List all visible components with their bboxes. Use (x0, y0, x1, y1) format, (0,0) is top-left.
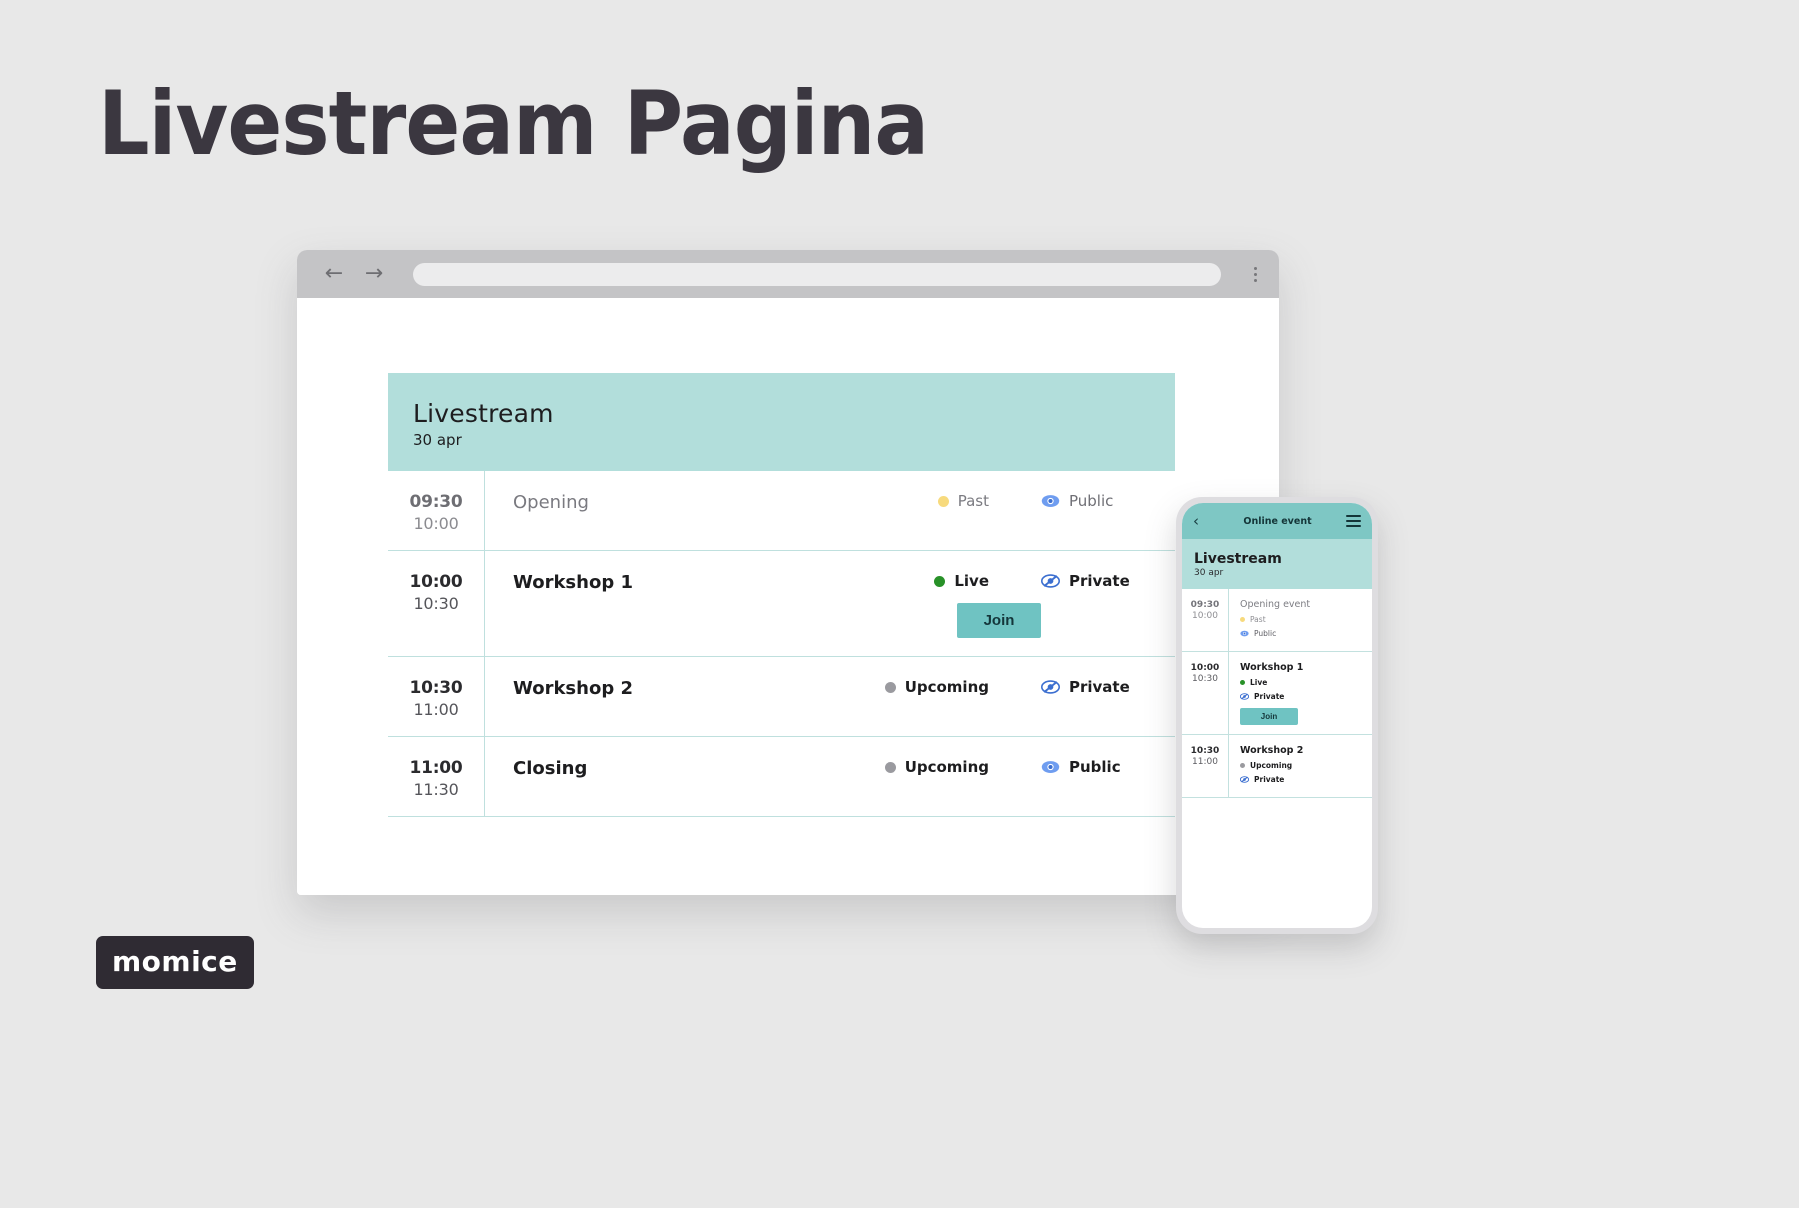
address-bar[interactable] (413, 263, 1221, 286)
row-title: Opening (513, 492, 938, 513)
phone-title: Online event (1209, 516, 1346, 527)
row-end-time: 11:00 (388, 700, 484, 719)
phone-banner: Livestream 30 apr (1182, 539, 1372, 589)
row-title: Workshop 2 (513, 678, 885, 699)
phone-banner-date: 30 apr (1194, 568, 1372, 578)
phone-status-badge: Live (1240, 678, 1364, 687)
visibility-label: Public (1069, 492, 1113, 510)
row-status-group: Upcoming Private (885, 678, 1149, 696)
phone-visibility-badge: Private (1240, 692, 1364, 701)
browser-toolbar: ← → (297, 250, 1279, 298)
phone-status-badge: Past (1240, 615, 1364, 624)
kebab-menu-icon[interactable] (1245, 267, 1265, 282)
visibility-label: Private (1069, 572, 1130, 590)
status-label: Live (954, 572, 989, 590)
browser-viewport: Livestream 30 apr 09:30 10:00 Opening (297, 298, 1279, 895)
status-dot-icon (938, 496, 949, 507)
phone-row-title: Workshop 1 (1240, 662, 1364, 673)
phone-row-end: 11:00 (1182, 757, 1228, 767)
phone-row-start: 09:30 (1182, 600, 1228, 610)
status-dot-icon (934, 576, 945, 587)
table-row[interactable]: 10:00 10:30 Workshop 1 Live (388, 551, 1175, 657)
phone-row-title: Opening event (1240, 599, 1364, 610)
phone-row-title: Workshop 2 (1240, 745, 1364, 756)
visibility-badge: Private (1041, 572, 1149, 590)
status-badge: Live (934, 572, 989, 590)
status-label: Upcoming (905, 758, 989, 776)
row-end-time: 11:30 (388, 780, 484, 799)
row-time: 09:30 10:00 (388, 471, 485, 550)
row-time: 10:00 10:30 (388, 551, 485, 656)
phone-status-label: Upcoming (1250, 761, 1292, 770)
row-time: 10:30 11:00 (388, 657, 485, 736)
table-row[interactable]: 11:00 11:30 Closing Upcoming (388, 737, 1175, 817)
phone-visibility-label: Private (1254, 775, 1284, 784)
phone-row-start: 10:00 (1182, 663, 1228, 673)
status-label: Past (958, 492, 989, 510)
eye-icon (1041, 760, 1060, 774)
status-label: Upcoming (905, 678, 989, 696)
row-start-time: 11:00 (388, 758, 484, 778)
row-badges: Live Private (934, 572, 1149, 590)
visibility-badge: Public (1041, 492, 1149, 510)
eye-off-icon (1240, 776, 1249, 783)
list-item[interactable]: 10:30 11:00 Workshop 2 Upcoming (1182, 735, 1372, 798)
status-dot-icon (1240, 617, 1245, 622)
phone-row-content: Workshop 1 Live Private (1229, 652, 1372, 734)
back-icon[interactable]: ← (323, 263, 345, 285)
visibility-badge: Private (1041, 678, 1149, 696)
status-dot-icon (1240, 680, 1245, 685)
row-content: Workshop 1 Live (485, 551, 1175, 656)
eye-off-icon (1041, 574, 1060, 588)
row-status-group: Upcoming Public (885, 758, 1149, 776)
eye-icon (1240, 630, 1249, 637)
row-title: Closing (513, 758, 885, 779)
canvas: Livestream Pagina ← → Livestream 30 apr … (0, 0, 1799, 1208)
phone-row-time: 10:30 11:00 (1182, 735, 1229, 797)
phone-join-button[interactable]: Join (1240, 708, 1298, 725)
visibility-badge: Public (1041, 758, 1149, 776)
status-badge: Upcoming (885, 758, 989, 776)
phone-visibility-label: Public (1254, 629, 1276, 638)
phone-visibility-badge: Private (1240, 775, 1364, 784)
phone-row-start: 10:30 (1182, 746, 1228, 756)
phone-visibility-badge: Public (1240, 629, 1364, 638)
schedule-date: 30 apr (413, 431, 1175, 449)
phone-row-end: 10:00 (1182, 611, 1228, 621)
list-item[interactable]: 10:00 10:30 Workshop 1 Live (1182, 652, 1372, 735)
phone-status-label: Live (1250, 678, 1267, 687)
phone-row-content: Opening event Past Public (1229, 589, 1372, 651)
status-dot-icon (885, 762, 896, 773)
row-start-time: 10:30 (388, 678, 484, 698)
back-chevron-icon[interactable]: ‹ (1193, 512, 1209, 530)
phone-status-badge: Upcoming (1240, 761, 1364, 770)
row-start-time: 09:30 (388, 492, 484, 512)
row-content: Closing Upcoming (485, 737, 1175, 816)
phone-status-label: Past (1250, 615, 1266, 624)
browser-window: ← → Livestream 30 apr 09:30 10:00 O (297, 250, 1279, 895)
schedule-header: Livestream 30 apr (388, 373, 1175, 471)
row-title: Workshop 1 (513, 572, 934, 593)
table-row[interactable]: 09:30 10:00 Opening Past (388, 471, 1175, 551)
visibility-label: Private (1069, 678, 1130, 696)
phone-banner-title: Livestream (1194, 551, 1372, 567)
phone-row-content: Workshop 2 Upcoming Private (1229, 735, 1372, 797)
hamburger-icon[interactable] (1346, 515, 1361, 527)
status-badge: Past (938, 492, 989, 510)
row-start-time: 10:00 (388, 572, 484, 592)
eye-off-icon (1041, 680, 1060, 694)
join-button[interactable]: Join (957, 603, 1041, 638)
row-status-group: Past Public (938, 492, 1149, 510)
row-end-time: 10:30 (388, 594, 484, 613)
status-dot-icon (885, 682, 896, 693)
row-badges: Upcoming Public (885, 758, 1149, 776)
eye-off-icon (1240, 693, 1249, 700)
phone-visibility-label: Private (1254, 692, 1284, 701)
phone-topbar: ‹ Online event (1182, 503, 1372, 539)
list-item[interactable]: 09:30 10:00 Opening event Past (1182, 589, 1372, 652)
row-content: Opening Past (485, 471, 1175, 550)
row-content: Workshop 2 Upcoming (485, 657, 1175, 736)
visibility-label: Public (1069, 758, 1121, 776)
schedule-panel: Livestream 30 apr 09:30 10:00 Opening (388, 373, 1175, 817)
table-row[interactable]: 10:30 11:00 Workshop 2 Upcoming (388, 657, 1175, 737)
phone-screen: ‹ Online event Livestream 30 apr 09:30 1… (1182, 503, 1372, 928)
phone-event-list: 09:30 10:00 Opening event Past (1182, 589, 1372, 928)
phone-mockup: ‹ Online event Livestream 30 apr 09:30 1… (1176, 497, 1378, 934)
row-badges: Upcoming Private (885, 678, 1149, 696)
forward-icon[interactable]: → (363, 263, 385, 285)
status-badge: Upcoming (885, 678, 989, 696)
schedule-title: Livestream (413, 399, 1175, 428)
phone-row-time: 09:30 10:00 (1182, 589, 1229, 651)
row-end-time: 10:00 (388, 514, 484, 533)
momice-logo: momice (96, 936, 254, 989)
page-title: Livestream Pagina (98, 72, 928, 175)
row-badges: Past Public (938, 492, 1149, 510)
eye-icon (1041, 494, 1060, 508)
row-status-group: Live Private (934, 572, 1149, 638)
phone-row-time: 10:00 10:30 (1182, 652, 1229, 734)
row-time: 11:00 11:30 (388, 737, 485, 816)
phone-row-end: 10:30 (1182, 674, 1228, 684)
status-dot-icon (1240, 763, 1245, 768)
